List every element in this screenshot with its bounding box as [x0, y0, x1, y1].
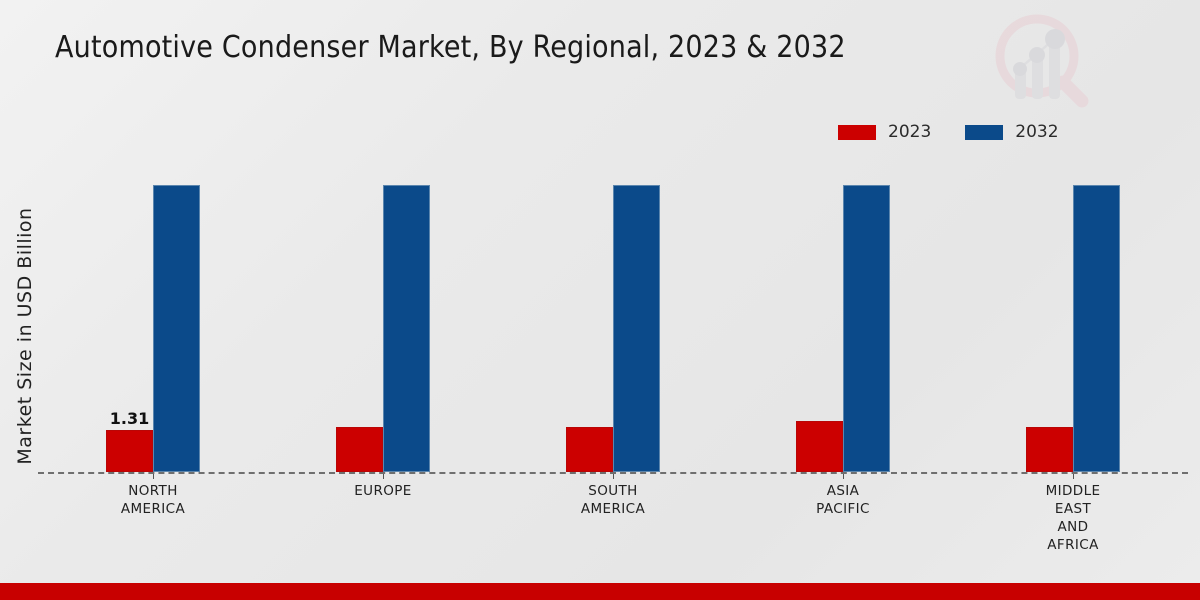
- x-axis-category-label: MIDDLEEASTANDAFRICA: [958, 482, 1188, 554]
- legend-item-2032[interactable]: 2032: [965, 122, 1058, 142]
- bar-2032[interactable]: [383, 185, 430, 472]
- legend-label-2032: 2032: [1015, 122, 1058, 142]
- legend-item-2023[interactable]: 2023: [838, 122, 931, 142]
- chart-legend: 2023 2032: [838, 122, 1059, 142]
- bar-value-label: 1.31: [110, 409, 149, 428]
- bar-group: EUROPE: [268, 160, 498, 472]
- legend-label-2023: 2023: [888, 122, 931, 142]
- bar-pair: [498, 160, 728, 472]
- bar-2032[interactable]: [843, 185, 890, 472]
- bar-2032[interactable]: [153, 185, 200, 472]
- y-axis-title: Market Size in USD Billion: [14, 176, 36, 496]
- bar-group: ASIAPACIFIC: [728, 160, 958, 472]
- bar-2023[interactable]: [566, 427, 613, 472]
- bar-groups: 1.31NORTHAMERICAEUROPESOUTHAMERICAASIAPA…: [38, 160, 1188, 472]
- plot-area: 1.31NORTHAMERICAEUROPESOUTHAMERICAASIAPA…: [38, 160, 1188, 472]
- legend-swatch-2032: [965, 125, 1003, 140]
- chart-title: Automotive Condenser Market, By Regional…: [55, 30, 846, 65]
- watermark-logo-icon: [985, 8, 1095, 113]
- x-axis-baseline: [38, 472, 1188, 474]
- bar-pair: 1.31: [38, 160, 268, 472]
- chart-canvas: Automotive Condenser Market, By Regional…: [0, 0, 1200, 600]
- bar-2032[interactable]: [613, 185, 660, 472]
- bar-2023[interactable]: 1.31: [106, 430, 153, 472]
- bar-2023[interactable]: [796, 421, 843, 472]
- bar-2023[interactable]: [336, 427, 383, 472]
- bar-group: SOUTHAMERICA: [498, 160, 728, 472]
- x-axis-category-label: NORTHAMERICA: [38, 482, 268, 518]
- bar-2023[interactable]: [1026, 427, 1073, 472]
- x-axis-category-label: ASIAPACIFIC: [728, 482, 958, 518]
- legend-swatch-2023: [838, 125, 876, 140]
- bar-group: MIDDLEEASTANDAFRICA: [958, 160, 1188, 472]
- x-axis-category-label: SOUTHAMERICA: [498, 482, 728, 518]
- bar-pair: [958, 160, 1188, 472]
- bar-2032[interactable]: [1073, 185, 1120, 472]
- x-axis-category-label: EUROPE: [268, 482, 498, 500]
- bar-pair: [268, 160, 498, 472]
- bar-pair: [728, 160, 958, 472]
- footer-band: [0, 583, 1200, 600]
- bar-group: 1.31NORTHAMERICA: [38, 160, 268, 472]
